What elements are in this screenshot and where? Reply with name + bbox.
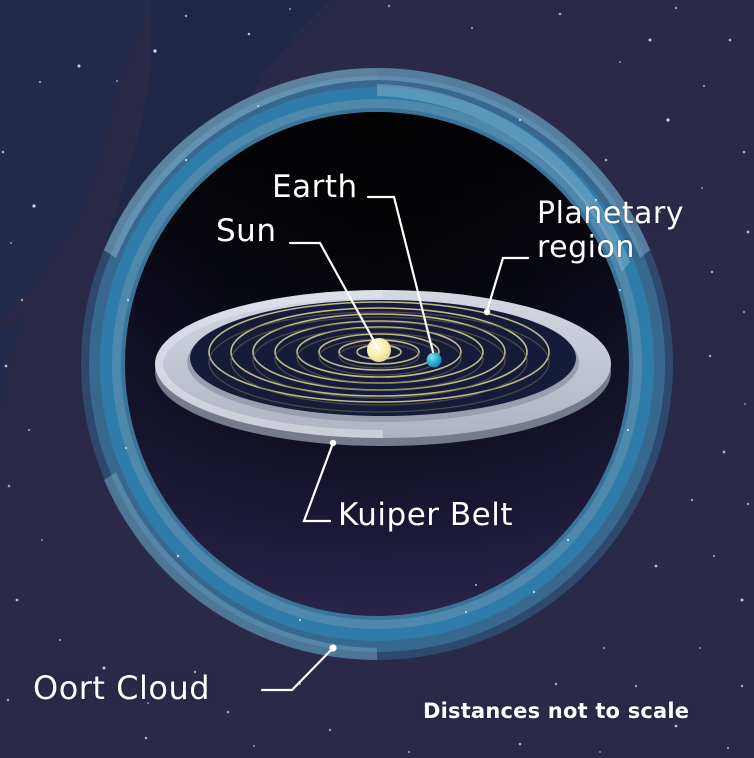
solar-system-diagram: Earth Sun Planetaryregion Kuiper Belt Oo… [0, 0, 754, 758]
label-earth: Earth [272, 170, 358, 205]
label-kuiper-belt: Kuiper Belt [338, 498, 513, 533]
label-planetary-region-line1: Planetary [537, 196, 684, 231]
label-sun: Sun [216, 214, 276, 249]
endpoint-kuiper-belt [330, 440, 336, 446]
label-planetary-region-line2: region [537, 230, 635, 265]
scale-note: Distances not to scale [423, 700, 689, 724]
endpoint-oort-cloud [329, 644, 336, 651]
diagram-canvas [0, 0, 754, 758]
endpoint-planetary-region [484, 309, 490, 315]
label-planetary-region: Planetaryregion [537, 197, 684, 264]
label-oort-cloud: Oort Cloud [33, 671, 210, 707]
earth-body [427, 353, 442, 368]
